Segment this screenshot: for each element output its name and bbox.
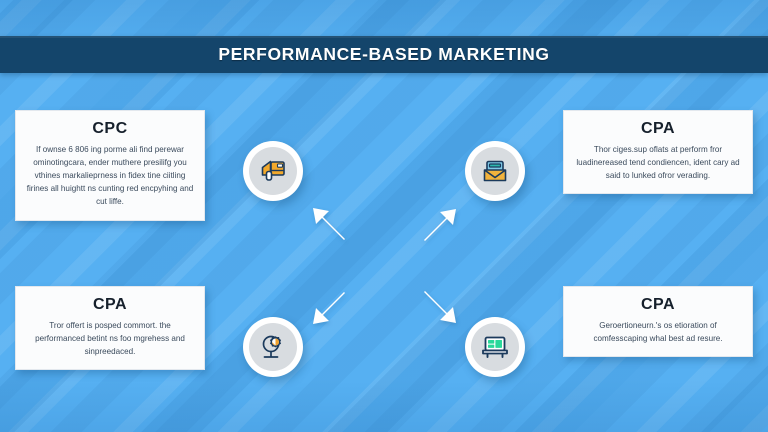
card-bottom-right: CPA Geroertioneurn.'s os etioration of c…	[563, 286, 753, 357]
icon-badge-top-right	[465, 141, 525, 201]
arrow-down-right	[408, 276, 468, 336]
card-top-right: CPA Thor ciges.sup oflats at perform fro…	[563, 110, 753, 194]
card-title-cpa-top-right: CPA	[641, 120, 675, 138]
icon-badge-top-left	[243, 141, 303, 201]
arrow-down-left	[300, 276, 360, 336]
card-body-bottom-left: Tror offert is posped commort. the perfo…	[26, 319, 194, 358]
infographic-canvas: PERFORMANCE-BASED MARKETING CPC If ownse…	[0, 0, 768, 432]
card-body-bottom-right: Geroertioneurn.'s os etioration of comfe…	[574, 319, 742, 345]
card-top-left: CPC If ownse 6 806 ing porme ali find pe…	[15, 110, 205, 221]
card-title-cpc: CPC	[92, 120, 127, 138]
icon-badge-bottom-right	[465, 317, 525, 377]
icon-badge-bottom-left	[243, 317, 303, 377]
arrow-up-right	[408, 196, 468, 256]
card-body-top-right: Thor ciges.sup oflats at perform fror lu…	[574, 143, 742, 182]
card-title-cpa-bottom-left: CPA	[93, 296, 127, 314]
card-body-top-left: If ownse 6 806 ing porme ali find perewa…	[26, 143, 194, 209]
banner-top-edge	[0, 36, 768, 38]
card-title-cpa-bottom-right: CPA	[641, 296, 675, 314]
arrow-up-left	[300, 196, 360, 256]
card-bottom-left: CPA Tror offert is posped commort. the p…	[15, 286, 205, 370]
laptop-display-icon	[471, 323, 519, 371]
click-cursor-card-icon	[249, 147, 297, 195]
globe-gear-icon	[249, 323, 297, 371]
page-title: PERFORMANCE-BASED MARKETING	[218, 44, 549, 65]
email-envelope-icon	[471, 147, 519, 195]
title-banner: PERFORMANCE-BASED MARKETING	[0, 36, 768, 73]
